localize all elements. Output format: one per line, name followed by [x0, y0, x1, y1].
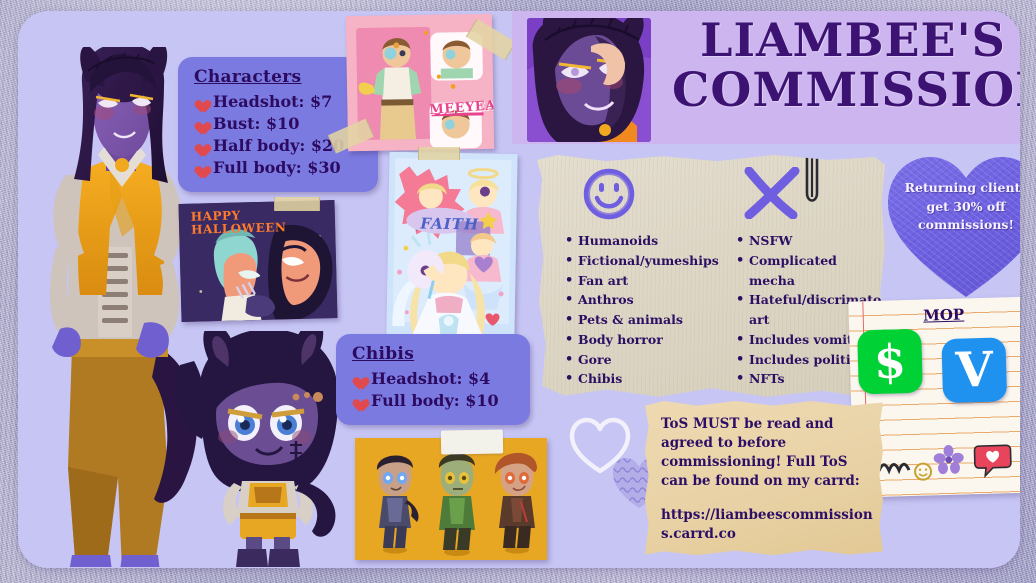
- list-item: Humanoids: [578, 231, 732, 251]
- commission-sheet: Characters Headshot: $7 Bust: $10 Half b…: [0, 0, 1036, 583]
- paperclip-icon: [801, 143, 823, 211]
- list-item: NSFW: [749, 231, 883, 251]
- chibi-character-illustration: [176, 331, 356, 568]
- heart-bullet-icon: [192, 95, 207, 109]
- price-label: Headshot: $4: [371, 369, 490, 388]
- artwork-happy-halloween: HAPPY HALLOWEEN: [178, 200, 337, 322]
- heart-bullet-icon: [192, 139, 207, 153]
- tape-piece: [418, 147, 460, 160]
- tape-piece: [274, 197, 320, 211]
- chibis-card-title: Chibis: [352, 344, 516, 364]
- list-item: Body horror: [578, 330, 732, 350]
- page-title: LIAMBEE'S COMMISSIONS: [672, 15, 1020, 113]
- title-line-2: COMMISSIONS: [672, 69, 1020, 114]
- returning-clients-text: Returning clients get 30% off commission…: [898, 179, 1020, 235]
- list-item: Fan art: [578, 271, 732, 291]
- x-mark-icon: [743, 167, 801, 219]
- price-label: Full body: $10: [371, 391, 499, 410]
- price-row: Full body: $30: [192, 158, 364, 177]
- heart-bullet-icon: [350, 394, 365, 408]
- artwork-chibi-trio: [355, 438, 547, 560]
- price-row: Headshot: $7: [192, 92, 364, 111]
- characters-card-title: Characters: [194, 67, 364, 87]
- artwork-faith: FAITH: [386, 152, 517, 336]
- list-item: Gore: [578, 350, 732, 370]
- venmo-icon[interactable]: V: [941, 337, 1007, 403]
- tos-text-block: ToS MUST be read and agreed to before co…: [661, 415, 873, 544]
- cashapp-glyph: $: [873, 334, 907, 389]
- heart-bullet-icon: [350, 372, 365, 386]
- venmo-glyph: V: [955, 342, 994, 399]
- faith-artwork-label: FAITH: [420, 214, 479, 233]
- cashapp-icon[interactable]: $: [857, 329, 923, 395]
- list-item: Complicated mecha: [749, 251, 883, 291]
- price-label: Headshot: $7: [213, 92, 332, 111]
- will-and-wont-draw-paper: Humanoids Fictional/yumeships Fan art An…: [537, 155, 885, 398]
- list-item: Pets & animals: [578, 310, 732, 330]
- sticker-doodles: [872, 441, 1020, 485]
- tape-piece-white: [441, 429, 503, 454]
- heart-bullet-icon: [192, 117, 207, 131]
- tos-body: ToS MUST be read and agreed to before co…: [661, 415, 873, 492]
- main-board: Characters Headshot: $7 Bust: $10 Half b…: [18, 11, 1020, 568]
- returning-clients-heart-note: Returning clients get 30% off commission…: [886, 147, 1020, 299]
- price-label: Full body: $30: [213, 158, 341, 177]
- price-label: Bust: $10: [213, 114, 299, 133]
- chibis-price-card: Chibis Headshot: $4 Full body: $10: [336, 334, 530, 425]
- smiley-face-icon: [581, 167, 637, 221]
- artist-avatar: [527, 18, 651, 142]
- list-item: Anthros: [578, 290, 732, 310]
- tos-note: ToS MUST be read and agreed to before co…: [645, 401, 883, 556]
- list-item: Chibis: [578, 369, 732, 389]
- price-label: Half body: $20: [213, 136, 344, 155]
- halloween-artwork-label: HAPPY HALLOWEEN: [191, 208, 287, 236]
- will-draw-list: Humanoids Fictional/yumeships Fan art An…: [562, 231, 732, 389]
- heart-bullet-icon: [192, 161, 207, 175]
- price-row: Headshot: $4: [350, 369, 516, 388]
- header-banner: LIAMBEE'S COMMISSIONS: [512, 11, 1020, 144]
- price-row: Full body: $10: [350, 391, 516, 410]
- tos-url[interactable]: https://liambeescommissions.carrd.co: [661, 506, 873, 544]
- list-item: Fictional/yumeships: [578, 251, 732, 271]
- title-line-1: LIAMBEE'S: [672, 19, 1020, 63]
